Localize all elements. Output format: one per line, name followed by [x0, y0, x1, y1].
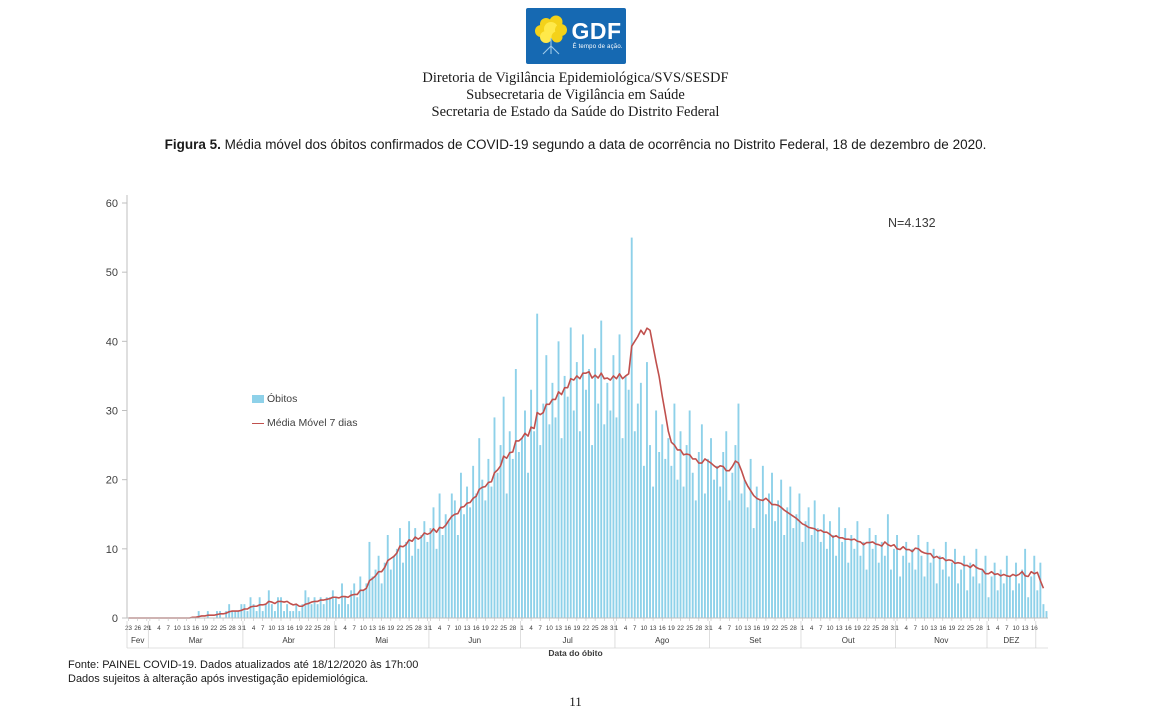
svg-text:7: 7	[261, 625, 265, 632]
svg-text:28: 28	[601, 625, 608, 632]
svg-text:19: 19	[573, 625, 580, 632]
svg-text:10: 10	[735, 625, 742, 632]
svg-text:16: 16	[1031, 625, 1038, 632]
svg-text:Nov: Nov	[934, 636, 948, 645]
svg-text:13: 13	[930, 625, 937, 632]
svg-text:10: 10	[827, 625, 834, 632]
svg-text:40: 40	[106, 336, 118, 348]
svg-text:28: 28	[415, 625, 422, 632]
svg-text:25: 25	[967, 625, 974, 632]
svg-text:19: 19	[854, 625, 861, 632]
svg-text:16: 16	[378, 625, 385, 632]
covid-deaths-chart: 0102030405060232629147101316192225283114…	[0, 185, 1151, 670]
svg-text:10: 10	[546, 625, 553, 632]
svg-text:19: 19	[668, 625, 675, 632]
svg-text:28: 28	[790, 625, 797, 632]
svg-text:Set: Set	[749, 636, 762, 645]
svg-text:4: 4	[624, 625, 628, 632]
svg-text:13: 13	[278, 625, 285, 632]
svg-text:25: 25	[500, 625, 507, 632]
svg-text:DEZ: DEZ	[1003, 636, 1019, 645]
svg-text:19: 19	[482, 625, 489, 632]
org-line-3: Secretaria de Estado da Saúde do Distrit…	[0, 104, 1151, 121]
svg-text:25: 25	[314, 625, 321, 632]
svg-text:13: 13	[464, 625, 471, 632]
svg-text:19: 19	[948, 625, 955, 632]
legend-item-obitos: Óbitos	[252, 393, 357, 405]
svg-text:Fev: Fev	[131, 636, 144, 645]
svg-text:26: 26	[134, 625, 141, 632]
org-line-1: Diretoria de Vigilância Epidemiológica/S…	[0, 70, 1151, 87]
gdf-logo: GDF É tempo de ação.	[526, 8, 626, 64]
svg-text:25: 25	[781, 625, 788, 632]
svg-text:22: 22	[305, 625, 312, 632]
svg-text:22: 22	[397, 625, 404, 632]
figure-label: Figura 5.	[165, 137, 221, 152]
svg-text:13: 13	[744, 625, 751, 632]
svg-text:22: 22	[772, 625, 779, 632]
chart-area: 0102030405060232629147101316192225283114…	[0, 185, 1151, 670]
svg-text:50: 50	[106, 267, 118, 279]
svg-text:10: 10	[921, 625, 928, 632]
svg-text:16: 16	[659, 625, 666, 632]
svg-text:16: 16	[287, 625, 294, 632]
svg-text:13: 13	[836, 625, 843, 632]
legend-swatch-bar-icon	[252, 395, 264, 403]
svg-text:7: 7	[728, 625, 732, 632]
svg-text:10: 10	[106, 544, 118, 556]
svg-text:16: 16	[473, 625, 480, 632]
svg-text:7: 7	[914, 625, 918, 632]
svg-text:4: 4	[718, 625, 722, 632]
svg-text:25: 25	[592, 625, 599, 632]
svg-text:28: 28	[695, 625, 702, 632]
svg-text:Mai: Mai	[375, 636, 388, 645]
svg-text:7: 7	[1005, 625, 1009, 632]
document-header: GDF É tempo de ação. Diretoria de Vigilâ…	[0, 0, 1151, 121]
svg-text:28: 28	[229, 625, 236, 632]
organization-lines: Diretoria de Vigilância Epidemiológica/S…	[0, 70, 1151, 121]
tree-icon	[534, 14, 570, 58]
svg-text:4: 4	[529, 625, 533, 632]
svg-text:13: 13	[555, 625, 562, 632]
figure-caption-text: Média móvel dos óbitos confirmados de CO…	[225, 137, 987, 152]
svg-text:10: 10	[1013, 625, 1020, 632]
svg-text:22: 22	[677, 625, 684, 632]
legend-item-media-movel: Média Móvel 7 dias	[252, 417, 357, 429]
svg-text:28: 28	[323, 625, 330, 632]
svg-text:20: 20	[106, 475, 118, 487]
svg-text:4: 4	[904, 625, 908, 632]
chart-legend: Óbitos Média Móvel 7 dias	[252, 393, 357, 441]
svg-text:4: 4	[810, 625, 814, 632]
page-number: 11	[0, 694, 1151, 710]
svg-text:Jul: Jul	[563, 636, 573, 645]
svg-text:10: 10	[174, 625, 181, 632]
svg-text:13: 13	[650, 625, 657, 632]
svg-text:7: 7	[819, 625, 823, 632]
svg-text:4: 4	[252, 625, 256, 632]
org-line-2: Subsecretaria de Vigilância em Saúde	[0, 87, 1151, 104]
legend-swatch-line-icon	[252, 423, 264, 424]
svg-text:19: 19	[296, 625, 303, 632]
svg-text:16: 16	[753, 625, 760, 632]
svg-text:13: 13	[1022, 625, 1029, 632]
svg-text:7: 7	[539, 625, 543, 632]
svg-text:7: 7	[166, 625, 170, 632]
svg-text:10: 10	[640, 625, 647, 632]
svg-text:16: 16	[192, 625, 199, 632]
svg-text:25: 25	[686, 625, 693, 632]
logo-text: GDF	[572, 18, 622, 45]
svg-text:7: 7	[633, 625, 637, 632]
svg-text:16: 16	[939, 625, 946, 632]
svg-text:4: 4	[343, 625, 347, 632]
svg-text:Abr: Abr	[282, 636, 295, 645]
svg-text:10: 10	[454, 625, 461, 632]
svg-text:7: 7	[352, 625, 356, 632]
svg-text:13: 13	[369, 625, 376, 632]
svg-text:7: 7	[447, 625, 451, 632]
svg-text:22: 22	[958, 625, 965, 632]
svg-text:16: 16	[845, 625, 852, 632]
svg-text:19: 19	[387, 625, 394, 632]
total-annotation: N=4.132	[888, 216, 936, 230]
svg-text:13: 13	[183, 625, 190, 632]
svg-text:0: 0	[112, 613, 118, 625]
svg-text:10: 10	[268, 625, 275, 632]
svg-text:28: 28	[976, 625, 983, 632]
svg-text:25: 25	[872, 625, 879, 632]
svg-text:23: 23	[125, 625, 132, 632]
svg-text:22: 22	[210, 625, 217, 632]
svg-text:30: 30	[106, 406, 118, 418]
svg-text:60: 60	[106, 198, 118, 210]
svg-text:28: 28	[509, 625, 516, 632]
legend-label-obitos: Óbitos	[267, 393, 297, 405]
svg-text:Jun: Jun	[468, 636, 481, 645]
svg-text:Out: Out	[842, 636, 856, 645]
svg-text:22: 22	[863, 625, 870, 632]
source-line-1: Fonte: PAINEL COVID-19. Dados atualizado…	[68, 658, 418, 672]
svg-text:28: 28	[881, 625, 888, 632]
svg-text:10: 10	[360, 625, 367, 632]
legend-label-media-movel: Média Móvel 7 dias	[267, 417, 357, 429]
svg-text:22: 22	[583, 625, 590, 632]
logo-slogan: É tempo de ação.	[573, 44, 623, 50]
svg-text:4: 4	[438, 625, 442, 632]
svg-text:25: 25	[220, 625, 227, 632]
document-page: GDF É tempo de ação. Diretoria de Vigilâ…	[0, 0, 1151, 714]
x-axis-title: Data do óbito	[0, 648, 1151, 658]
svg-text:22: 22	[491, 625, 498, 632]
svg-text:16: 16	[564, 625, 571, 632]
svg-text:4: 4	[996, 625, 1000, 632]
source-line-2: Dados sujeitos à alteração após investig…	[68, 672, 418, 686]
svg-text:Mar: Mar	[189, 636, 203, 645]
svg-text:Ago: Ago	[655, 636, 670, 645]
svg-text:19: 19	[762, 625, 769, 632]
svg-text:25: 25	[406, 625, 413, 632]
source-note: Fonte: PAINEL COVID-19. Dados atualizado…	[68, 658, 418, 686]
svg-text:19: 19	[201, 625, 208, 632]
svg-text:4: 4	[157, 625, 161, 632]
figure-caption: Figura 5. Média móvel dos óbitos confirm…	[0, 137, 1151, 152]
